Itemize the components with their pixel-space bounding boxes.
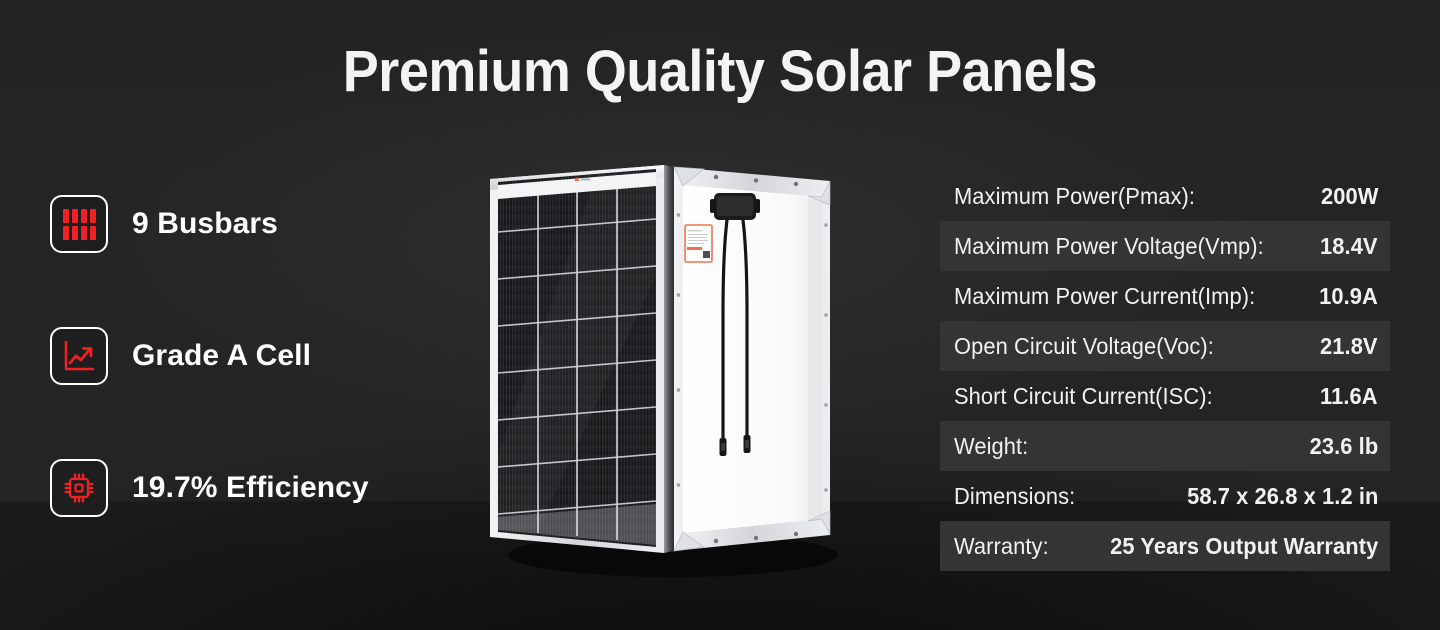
table-row: Maximum Power Voltage(Vmp): 18.4V — [940, 221, 1390, 271]
junction-box — [710, 193, 760, 220]
feature-item-grade-a-cell: Grade A Cell — [50, 327, 311, 385]
feature-label-grade-a-cell: Grade A Cell — [132, 339, 311, 373]
specifications-table: Maximum Power(Pmax): 200W Maximum Power … — [940, 171, 1390, 571]
feature-label-busbars: 9 Busbars — [132, 207, 278, 241]
spec-key: Weight: — [954, 433, 1028, 460]
microchip-icon — [50, 459, 108, 517]
infographic-canvas: Premium Quality Solar Panels 9 Busbars G… — [0, 0, 1440, 630]
spec-key: Dimensions: — [954, 483, 1075, 510]
spec-key: Maximum Power Voltage(Vmp): — [954, 233, 1264, 260]
product-spec-label — [685, 225, 712, 262]
table-row: Maximum Power Current(Imp): 10.9A — [940, 271, 1390, 321]
spec-value: 25 Years Output Warranty — [1110, 533, 1378, 560]
spec-value: 21.8V — [1320, 333, 1378, 360]
spec-key: Maximum Power(Pmax): — [954, 183, 1195, 210]
table-row: Maximum Power(Pmax): 200W — [940, 171, 1390, 221]
line-chart-up-icon — [50, 327, 108, 385]
spec-value: 23.6 lb — [1309, 433, 1378, 460]
solar-panel-image — [478, 155, 848, 585]
spec-key: Maximum Power Current(Imp): — [954, 283, 1255, 310]
spec-value: 58.7 x 26.8 x 1.2 in — [1187, 483, 1378, 510]
spec-key: Short Circuit Current(ISC): — [954, 383, 1213, 410]
table-row: Open Circuit Voltage(Voc): 21.8V — [940, 321, 1390, 371]
table-row: Weight: 23.6 lb — [940, 421, 1390, 471]
table-row: Warranty: 25 Years Output Warranty — [940, 521, 1390, 571]
spec-value: 200W — [1321, 183, 1378, 210]
feature-label-efficiency: 19.7% Efficiency — [132, 471, 369, 505]
spec-value: 10.9A — [1319, 283, 1378, 310]
table-row: Short Circuit Current(ISC): 11.6A — [940, 371, 1390, 421]
spec-key: Open Circuit Voltage(Voc): — [954, 333, 1214, 360]
page-title: Premium Quality Solar Panels — [50, 38, 1389, 105]
busbar-grid-icon — [50, 195, 108, 253]
table-row: Dimensions: 58.7 x 26.8 x 1.2 in — [940, 471, 1390, 521]
spec-key: Warranty: — [954, 533, 1049, 560]
feature-item-efficiency: 19.7% Efficiency — [50, 459, 369, 517]
spec-value: 11.6A — [1320, 383, 1378, 410]
spec-value: 18.4V — [1320, 233, 1378, 260]
feature-item-busbars: 9 Busbars — [50, 195, 278, 253]
